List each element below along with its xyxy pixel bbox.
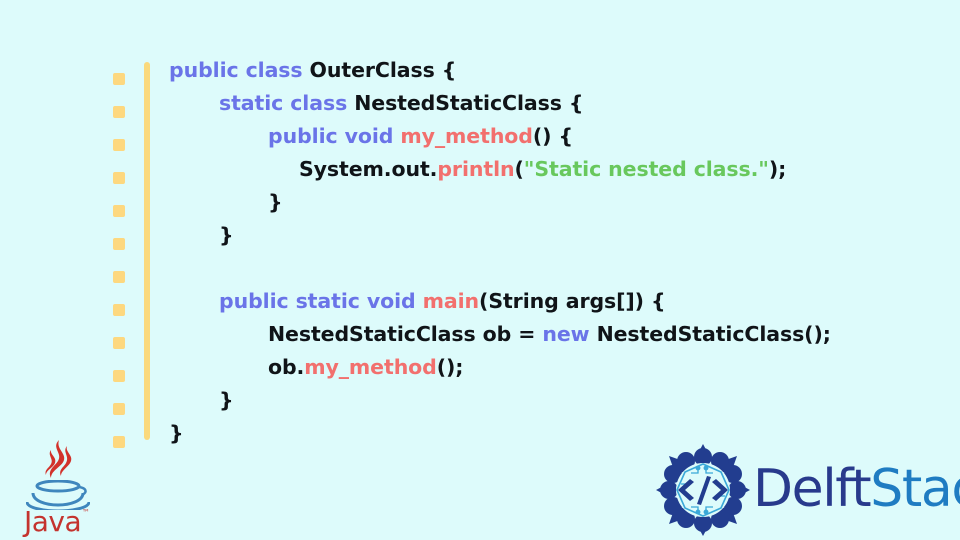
- java-trademark: ™: [82, 508, 90, 517]
- code-token-kw: static class: [219, 91, 354, 115]
- code-line: ob.my_method();: [0, 351, 960, 384]
- code-token-fn: my_method: [304, 355, 437, 379]
- code-token-pl: }: [169, 421, 184, 445]
- code-token-pl: NestedStaticClass ob =: [268, 322, 542, 346]
- code-token-pl: ();: [437, 355, 464, 379]
- code-line: public static void main(String args[]) {: [0, 285, 960, 318]
- code-line: }: [0, 219, 960, 252]
- code-line: }: [0, 384, 960, 417]
- code-token-fn: main: [423, 289, 479, 313]
- code-line: static class NestedStaticClass {: [0, 87, 960, 120]
- code-token-kw: public class: [169, 58, 310, 82]
- code-token-pl: (: [515, 157, 524, 181]
- code-line: }: [0, 186, 960, 219]
- code-line: NestedStaticClass ob = new NestedStaticC…: [0, 318, 960, 351]
- code-token-pl: (String args[]) {: [479, 289, 665, 313]
- code-block: public class OuterClass {static class Ne…: [0, 0, 960, 460]
- code-token-pl: );: [769, 157, 786, 181]
- code-token-pl: () {: [533, 124, 573, 148]
- code-token-pl: NestedStaticClass {: [354, 91, 583, 115]
- code-line: public class OuterClass {: [0, 54, 960, 87]
- code-token-pl: System.out.: [299, 157, 437, 181]
- code-token-pl: OuterClass {: [310, 58, 457, 82]
- code-line: System.out.println("Static nested class.…: [0, 153, 960, 186]
- delftstack-word-primary: Delft: [753, 459, 870, 519]
- code-token-pl: ob.: [268, 355, 304, 379]
- code-token-pl: }: [268, 190, 283, 214]
- code-token-fn: my_method: [400, 124, 533, 148]
- code-token-fn: println: [437, 157, 514, 181]
- code-line: [0, 252, 960, 285]
- java-logo: Java ™: [24, 440, 92, 536]
- delftstack-logo: DelftStack: [655, 443, 951, 537]
- code-token-kw: public void: [268, 124, 400, 148]
- code-token-pl: NestedStaticClass();: [597, 322, 831, 346]
- code-token-str: "Static nested class.": [524, 157, 769, 181]
- delftstack-wordmark: DelftStack: [753, 457, 960, 521]
- code-token-pl: }: [219, 223, 234, 247]
- code-token-kw: public static void: [219, 289, 423, 313]
- delftstack-word-secondary: Stack: [870, 459, 960, 519]
- code-line: public void my_method() {: [0, 120, 960, 153]
- code-token-kw: new: [542, 322, 596, 346]
- code-token-pl: }: [219, 388, 234, 412]
- delftstack-mandala-icon: [655, 443, 751, 537]
- code-lines: public class OuterClass {static class Ne…: [0, 54, 960, 450]
